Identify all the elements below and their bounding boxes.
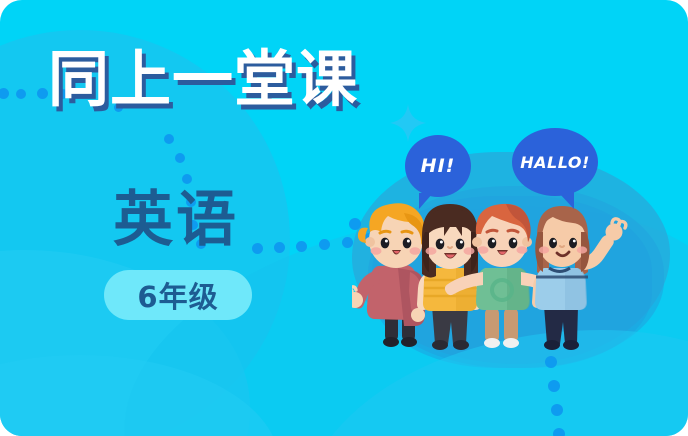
trail-dot xyxy=(319,239,330,250)
hi-bubble-tail xyxy=(419,193,433,209)
hallo-speech-bubble: HALLO! xyxy=(512,128,598,196)
sparkle-icon xyxy=(390,104,426,142)
hallo-speech-bubble-text: HALLO! xyxy=(520,153,590,172)
page-title: 同上一堂课 xyxy=(48,48,358,111)
four-children-illustration xyxy=(352,188,652,358)
trail-dot xyxy=(175,153,185,163)
child-blond-boy xyxy=(352,203,425,347)
trail-dot xyxy=(182,174,192,184)
hi-speech-bubble-text: HI! xyxy=(421,155,456,177)
trail-dot xyxy=(548,380,560,392)
hi-speech-bubble: HI! xyxy=(405,135,471,197)
trail-dot xyxy=(16,89,26,99)
subject-title: 英语 xyxy=(113,190,239,250)
trail-dot xyxy=(37,88,48,99)
trail-dot xyxy=(551,404,563,416)
trail-dot xyxy=(296,241,307,252)
trail-dot xyxy=(252,243,263,254)
trail-dot xyxy=(553,428,565,436)
background-curve-bottom-left xyxy=(0,355,280,436)
grade-badge: 6年级 xyxy=(104,270,252,320)
child-auburn-girl xyxy=(532,206,626,350)
course-cover-card: 同上一堂课 英语 6年级 xyxy=(0,0,688,436)
grade-badge-label: 6年级 xyxy=(137,274,218,316)
trail-dot xyxy=(274,242,285,253)
trail-dot xyxy=(0,88,9,99)
trail-dot xyxy=(164,134,174,144)
hallo-bubble-tail xyxy=(558,192,574,209)
